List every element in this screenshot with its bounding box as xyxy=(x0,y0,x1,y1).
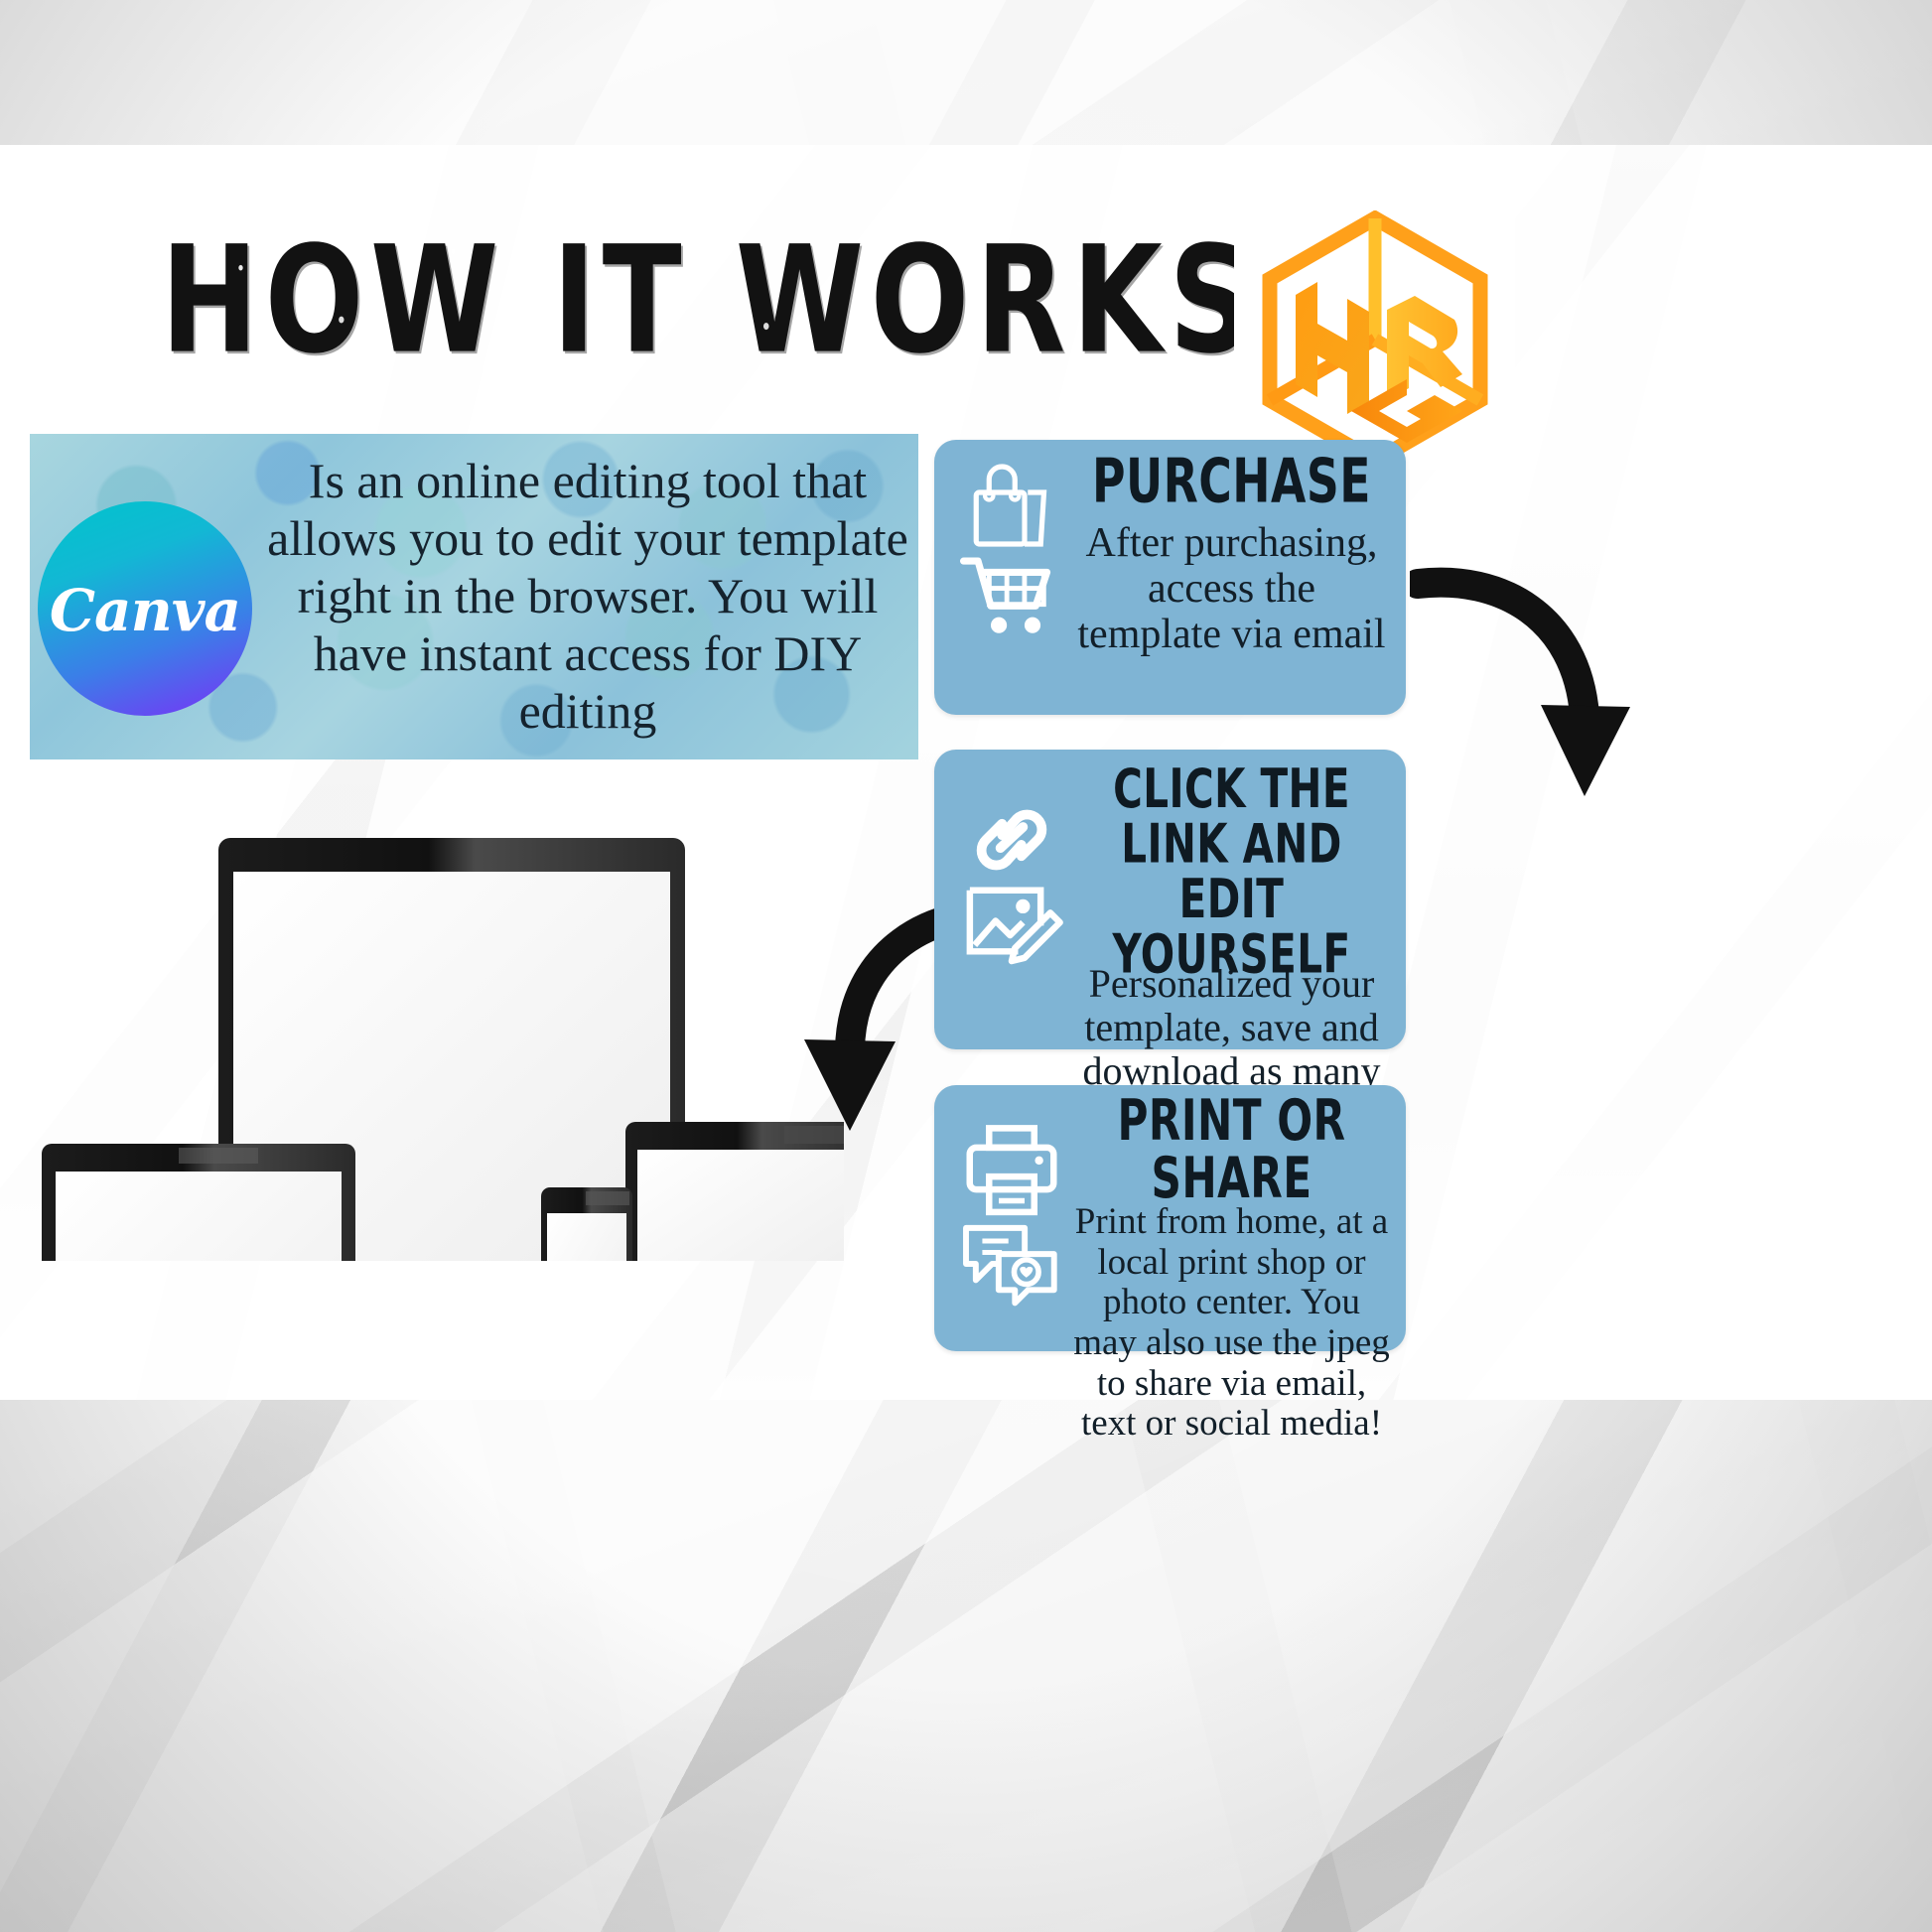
shopping-bag-icon xyxy=(960,454,1063,557)
image-edit-icon xyxy=(959,881,1064,974)
hrg-cube-logo-icon xyxy=(1256,210,1494,454)
step-2-heading: CLICK THE LINK AND EDIT YOURSELF xyxy=(1090,761,1372,981)
step-3-icons xyxy=(952,1121,1071,1310)
canva-logo-wordmark: Canva xyxy=(50,577,240,644)
canva-logo: Canva xyxy=(38,501,252,716)
curved-arrow-down-right-icon xyxy=(1410,566,1638,814)
step-1-description: After purchasing, access the template vi… xyxy=(1071,520,1392,658)
shopping-cart-icon xyxy=(960,553,1063,636)
device-smartphone xyxy=(541,1187,632,1261)
step-3-body: PRINT OR SHARE Print from home, at a loc… xyxy=(1071,1093,1392,1445)
printer-icon xyxy=(960,1121,1063,1216)
step-1-icons xyxy=(952,454,1071,636)
step-3-description: Print from home, at a local print shop o… xyxy=(1071,1202,1392,1445)
step-card-edit[interactable]: CLICK THE LINK AND EDIT YOURSELF Persona… xyxy=(934,750,1406,1049)
share-chat-icon xyxy=(959,1218,1064,1310)
devices-mockup-image xyxy=(30,834,844,1261)
step-1-heading: PURCHASE xyxy=(1090,452,1372,514)
step-3-heading: PRINT OR SHARE xyxy=(1090,1093,1372,1208)
canva-info-banner: Canva Is an online editing tool that all… xyxy=(30,434,918,759)
device-laptop xyxy=(30,1144,387,1261)
step-1-body: PURCHASE After purchasing, access the te… xyxy=(1071,452,1392,658)
link-chain-icon xyxy=(960,801,1063,879)
step-2-body: CLICK THE LINK AND EDIT YOURSELF Persona… xyxy=(1071,761,1392,1137)
page-title: HOW IT WORKS xyxy=(161,226,1259,374)
step-2-icons xyxy=(952,801,1071,974)
step-card-purchase[interactable]: PURCHASE After purchasing, access the te… xyxy=(934,440,1406,715)
step-card-print-share[interactable]: PRINT OR SHARE Print from home, at a loc… xyxy=(934,1085,1406,1351)
canva-description: Is an online editing tool that allows yo… xyxy=(266,452,909,740)
brand-logo-card xyxy=(1234,195,1515,470)
